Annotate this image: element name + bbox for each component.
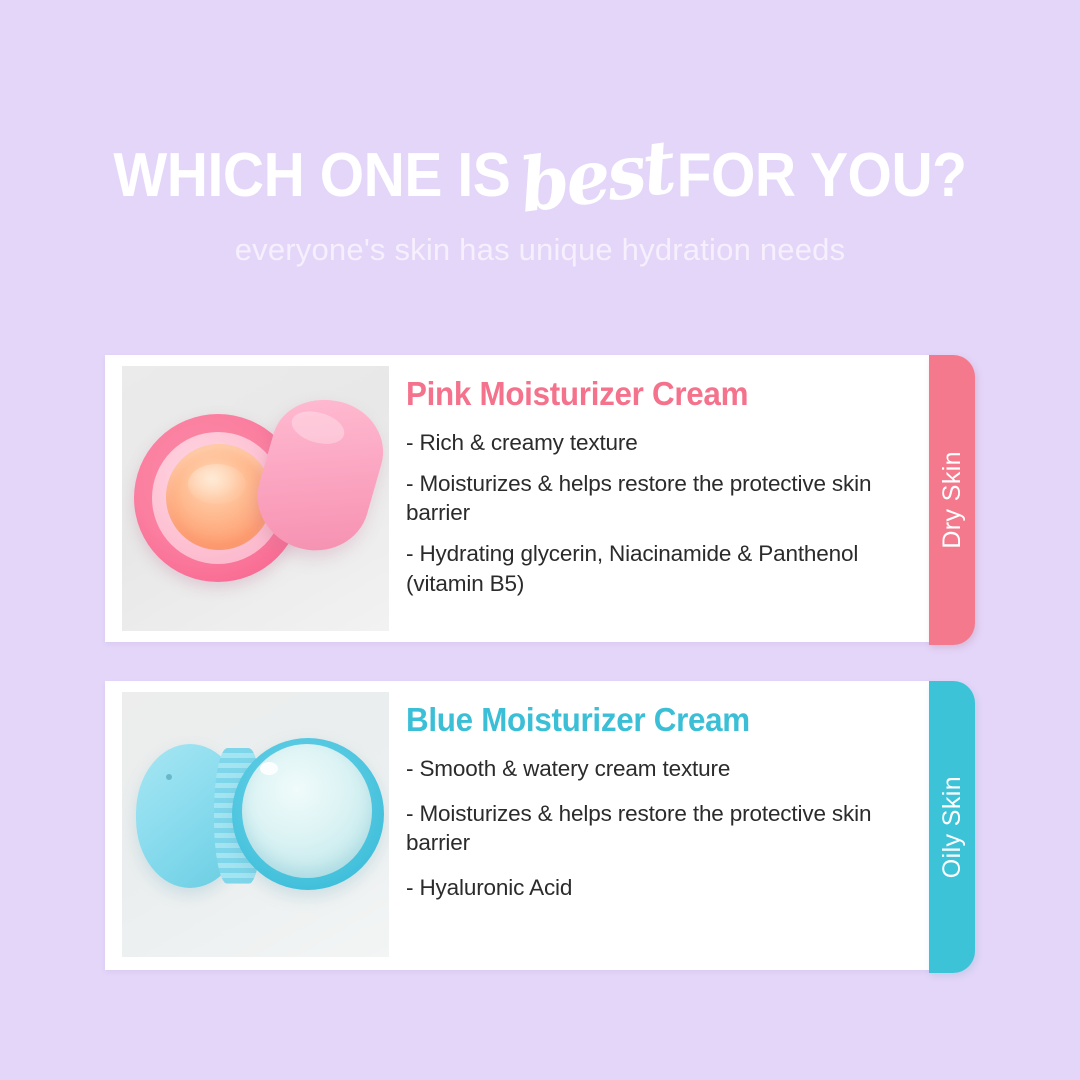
blue-gel-surface [242, 744, 372, 878]
skin-type-tab-oily[interactable]: Oily Skin [929, 681, 975, 973]
card-inner: Blue Moisturizer Cream - Smooth & watery… [105, 681, 933, 970]
list-item: - Moisturizes & helps restore the protec… [406, 799, 903, 859]
product-title-blue: Blue Moisturizer Cream [406, 703, 878, 738]
list-item: - Hyaluronic Acid [406, 873, 903, 903]
list-item: - Hydrating glycerin, Niacinamide & Pant… [406, 539, 903, 599]
skin-type-tab-label: Dry Skin [938, 451, 967, 549]
list-item: - Rich & creamy texture [406, 428, 903, 458]
headline-script-word: best [516, 130, 676, 224]
product-card-pink[interactable]: Pink Moisturizer Cream - Rich & creamy t… [105, 355, 933, 642]
skin-type-tab-dry[interactable]: Dry Skin [929, 355, 975, 645]
product-card-blue[interactable]: Blue Moisturizer Cream - Smooth & watery… [105, 681, 933, 970]
skin-type-tab-label: Oily Skin [938, 776, 967, 878]
card-text-pink: Pink Moisturizer Cream - Rich & creamy t… [389, 355, 933, 610]
list-item: - Moisturizes & helps restore the protec… [406, 469, 903, 529]
headline-text-before: WHICH ONE IS [113, 145, 510, 207]
feature-list-blue: - Smooth & watery cream texture - Moistu… [406, 754, 903, 904]
headline-text-after: FOR YOU? [677, 145, 967, 207]
page-title: WHICH ONE ISbestFOR YOU? [43, 0, 1037, 208]
card-text-blue: Blue Moisturizer Cream - Smooth & watery… [389, 681, 933, 918]
product-title-pink: Pink Moisturizer Cream [406, 377, 878, 412]
feature-list-pink: - Rich & creamy texture - Moisturizes & … [406, 428, 903, 600]
card-inner: Pink Moisturizer Cream - Rich & creamy t… [105, 355, 933, 642]
pink-cream-surface [166, 444, 272, 550]
list-item: - Smooth & watery cream texture [406, 754, 903, 784]
product-photo-pink [122, 366, 389, 631]
header: WHICH ONE ISbestFOR YOU? everyone's skin… [0, 0, 1080, 268]
product-photo-blue [122, 692, 389, 957]
